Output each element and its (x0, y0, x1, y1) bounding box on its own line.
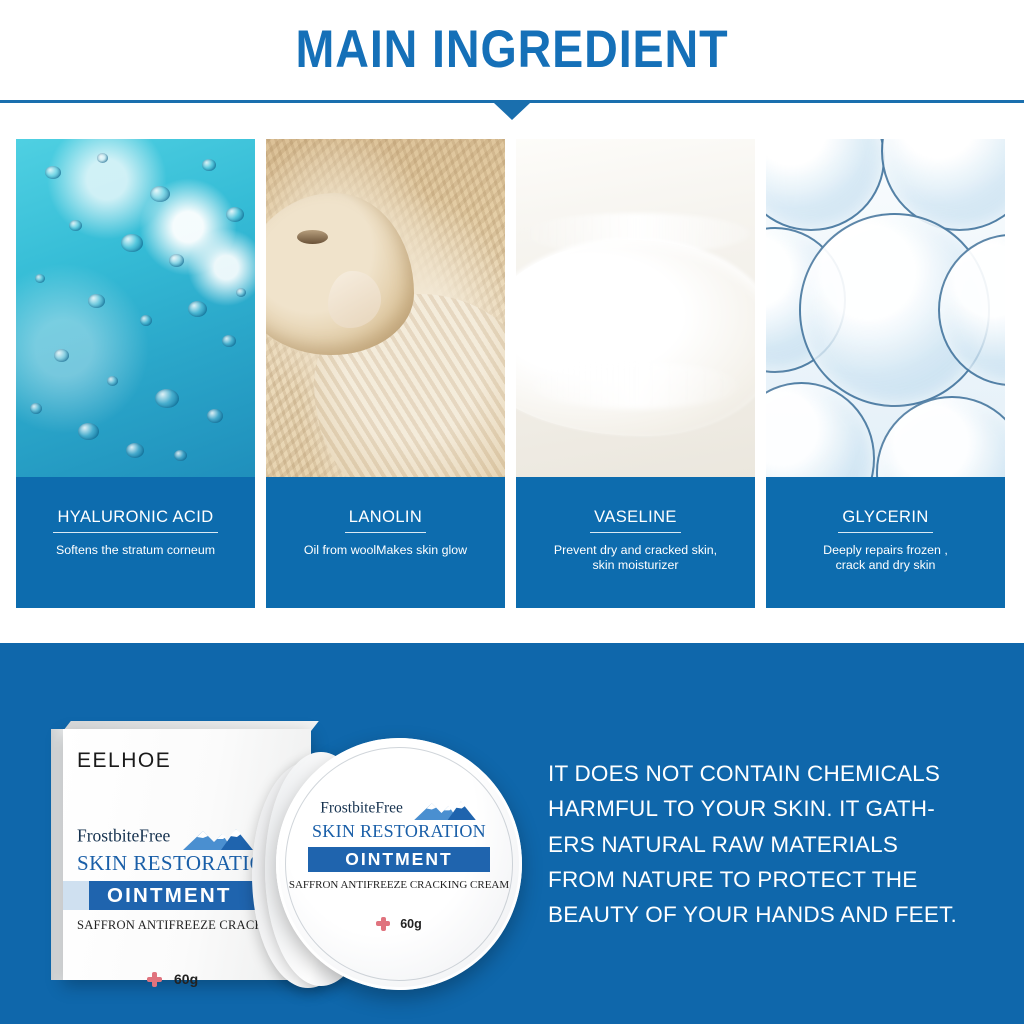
water-bubbles-photo (16, 139, 255, 477)
card-caption: LANOLIN Oil from woolMakes skin glow (266, 477, 505, 608)
card-caption: HYALURONIC ACID Softens the stratum corn… (16, 477, 255, 608)
page-title: MAIN INGREDIENT (61, 22, 962, 78)
jar-subtitle: SAFFRON ANTIFREEZE CRACKING CREAM (289, 879, 509, 891)
white-cream-photo (516, 139, 755, 477)
glycerin-bubbles-photo (766, 139, 1005, 477)
card-caption: VASELINE Prevent dry and cracked skin, s… (516, 477, 755, 608)
ingredient-description-line2: skin moisturizer (592, 558, 678, 572)
mountain-logo-icon (181, 825, 255, 850)
ingredient-name: HYALURONIC ACID (57, 508, 213, 533)
jar-product-type-label: OINTMENT (345, 849, 452, 870)
jar-name-script: FrostbiteFree (320, 798, 478, 820)
box-weight-group: 60g (147, 971, 297, 987)
jar-product-type-band: OINTMENT (308, 847, 490, 872)
ingredient-description-line1: Deeply repairs frozen , (823, 543, 948, 557)
sheep-wool-photo (266, 139, 505, 477)
medical-cross-icon (147, 972, 162, 987)
product-packaging: EELHOE FrostbiteFree SKIN RESTORATION OI… (45, 700, 525, 1000)
ingredient-description: Softens the stratum corneum (56, 543, 215, 558)
ingredient-name: VASELINE (594, 508, 677, 533)
ingredient-description-line1: Prevent dry and cracked skin, (554, 543, 717, 557)
marketing-copy: IT DOES NOT CONTAIN CHEMICALS HARMFUL TO… (548, 756, 1004, 933)
jar-label: FrostbiteFree SKIN RESTORATION OINTMENT … (276, 738, 522, 990)
marketing-copy-line3: ERS NATURAL RAW MATERIALS (548, 827, 1004, 862)
header: MAIN INGREDIENT (0, 0, 1024, 101)
ingredient-card-lanolin[interactable]: LANOLIN Oil from woolMakes skin glow (266, 139, 505, 608)
ingredient-card-hyaluronic-acid[interactable]: HYALURONIC ACID Softens the stratum corn… (16, 139, 255, 608)
mountain-logo-icon (412, 798, 478, 820)
marketing-copy-line2: HARMFUL TO YOUR SKIN. IT GATH- (548, 791, 1004, 826)
jar-weight-group: 60g (376, 917, 422, 931)
ingredient-description: Prevent dry and cracked skin, skin moist… (554, 543, 717, 573)
brand-name: EELHOE (77, 749, 297, 773)
product-jar: FrostbiteFree SKIN RESTORATION OINTMENT … (276, 738, 522, 990)
ingredient-name: GLYCERIN (842, 508, 928, 533)
box-weight-label: 60g (174, 971, 198, 987)
medical-cross-icon (376, 917, 390, 931)
marketing-copy-line4: FROM NATURE TO PROTECT THE (548, 862, 1004, 897)
jar-name-main: SKIN RESTORATION (312, 821, 486, 842)
ingredient-card-glycerin[interactable]: GLYCERIN Deeply repairs frozen , crack a… (766, 139, 1005, 608)
ingredient-card-vaseline[interactable]: VASELINE Prevent dry and cracked skin, s… (516, 139, 755, 608)
ingredient-card-grid: HYALURONIC ACID Softens the stratum corn… (16, 139, 1008, 608)
triangle-down-icon (494, 103, 530, 120)
marketing-copy-line5: BEAUTY OF YOUR HANDS AND FEET. (548, 897, 1004, 932)
ingredient-description: Oil from woolMakes skin glow (304, 543, 467, 558)
product-infographic-page: MAIN INGREDIENT (0, 0, 1024, 1024)
card-caption: GLYCERIN Deeply repairs frozen , crack a… (766, 477, 1005, 608)
product-type-label: OINTMENT (107, 884, 232, 908)
ingredient-description: Deeply repairs frozen , crack and dry sk… (823, 543, 948, 573)
ingredient-description-line2: crack and dry skin (836, 558, 936, 572)
ingredient-name: LANOLIN (349, 508, 422, 533)
jar-weight-label: 60g (400, 917, 422, 931)
marketing-copy-line1: IT DOES NOT CONTAIN CHEMICALS (548, 756, 1004, 791)
